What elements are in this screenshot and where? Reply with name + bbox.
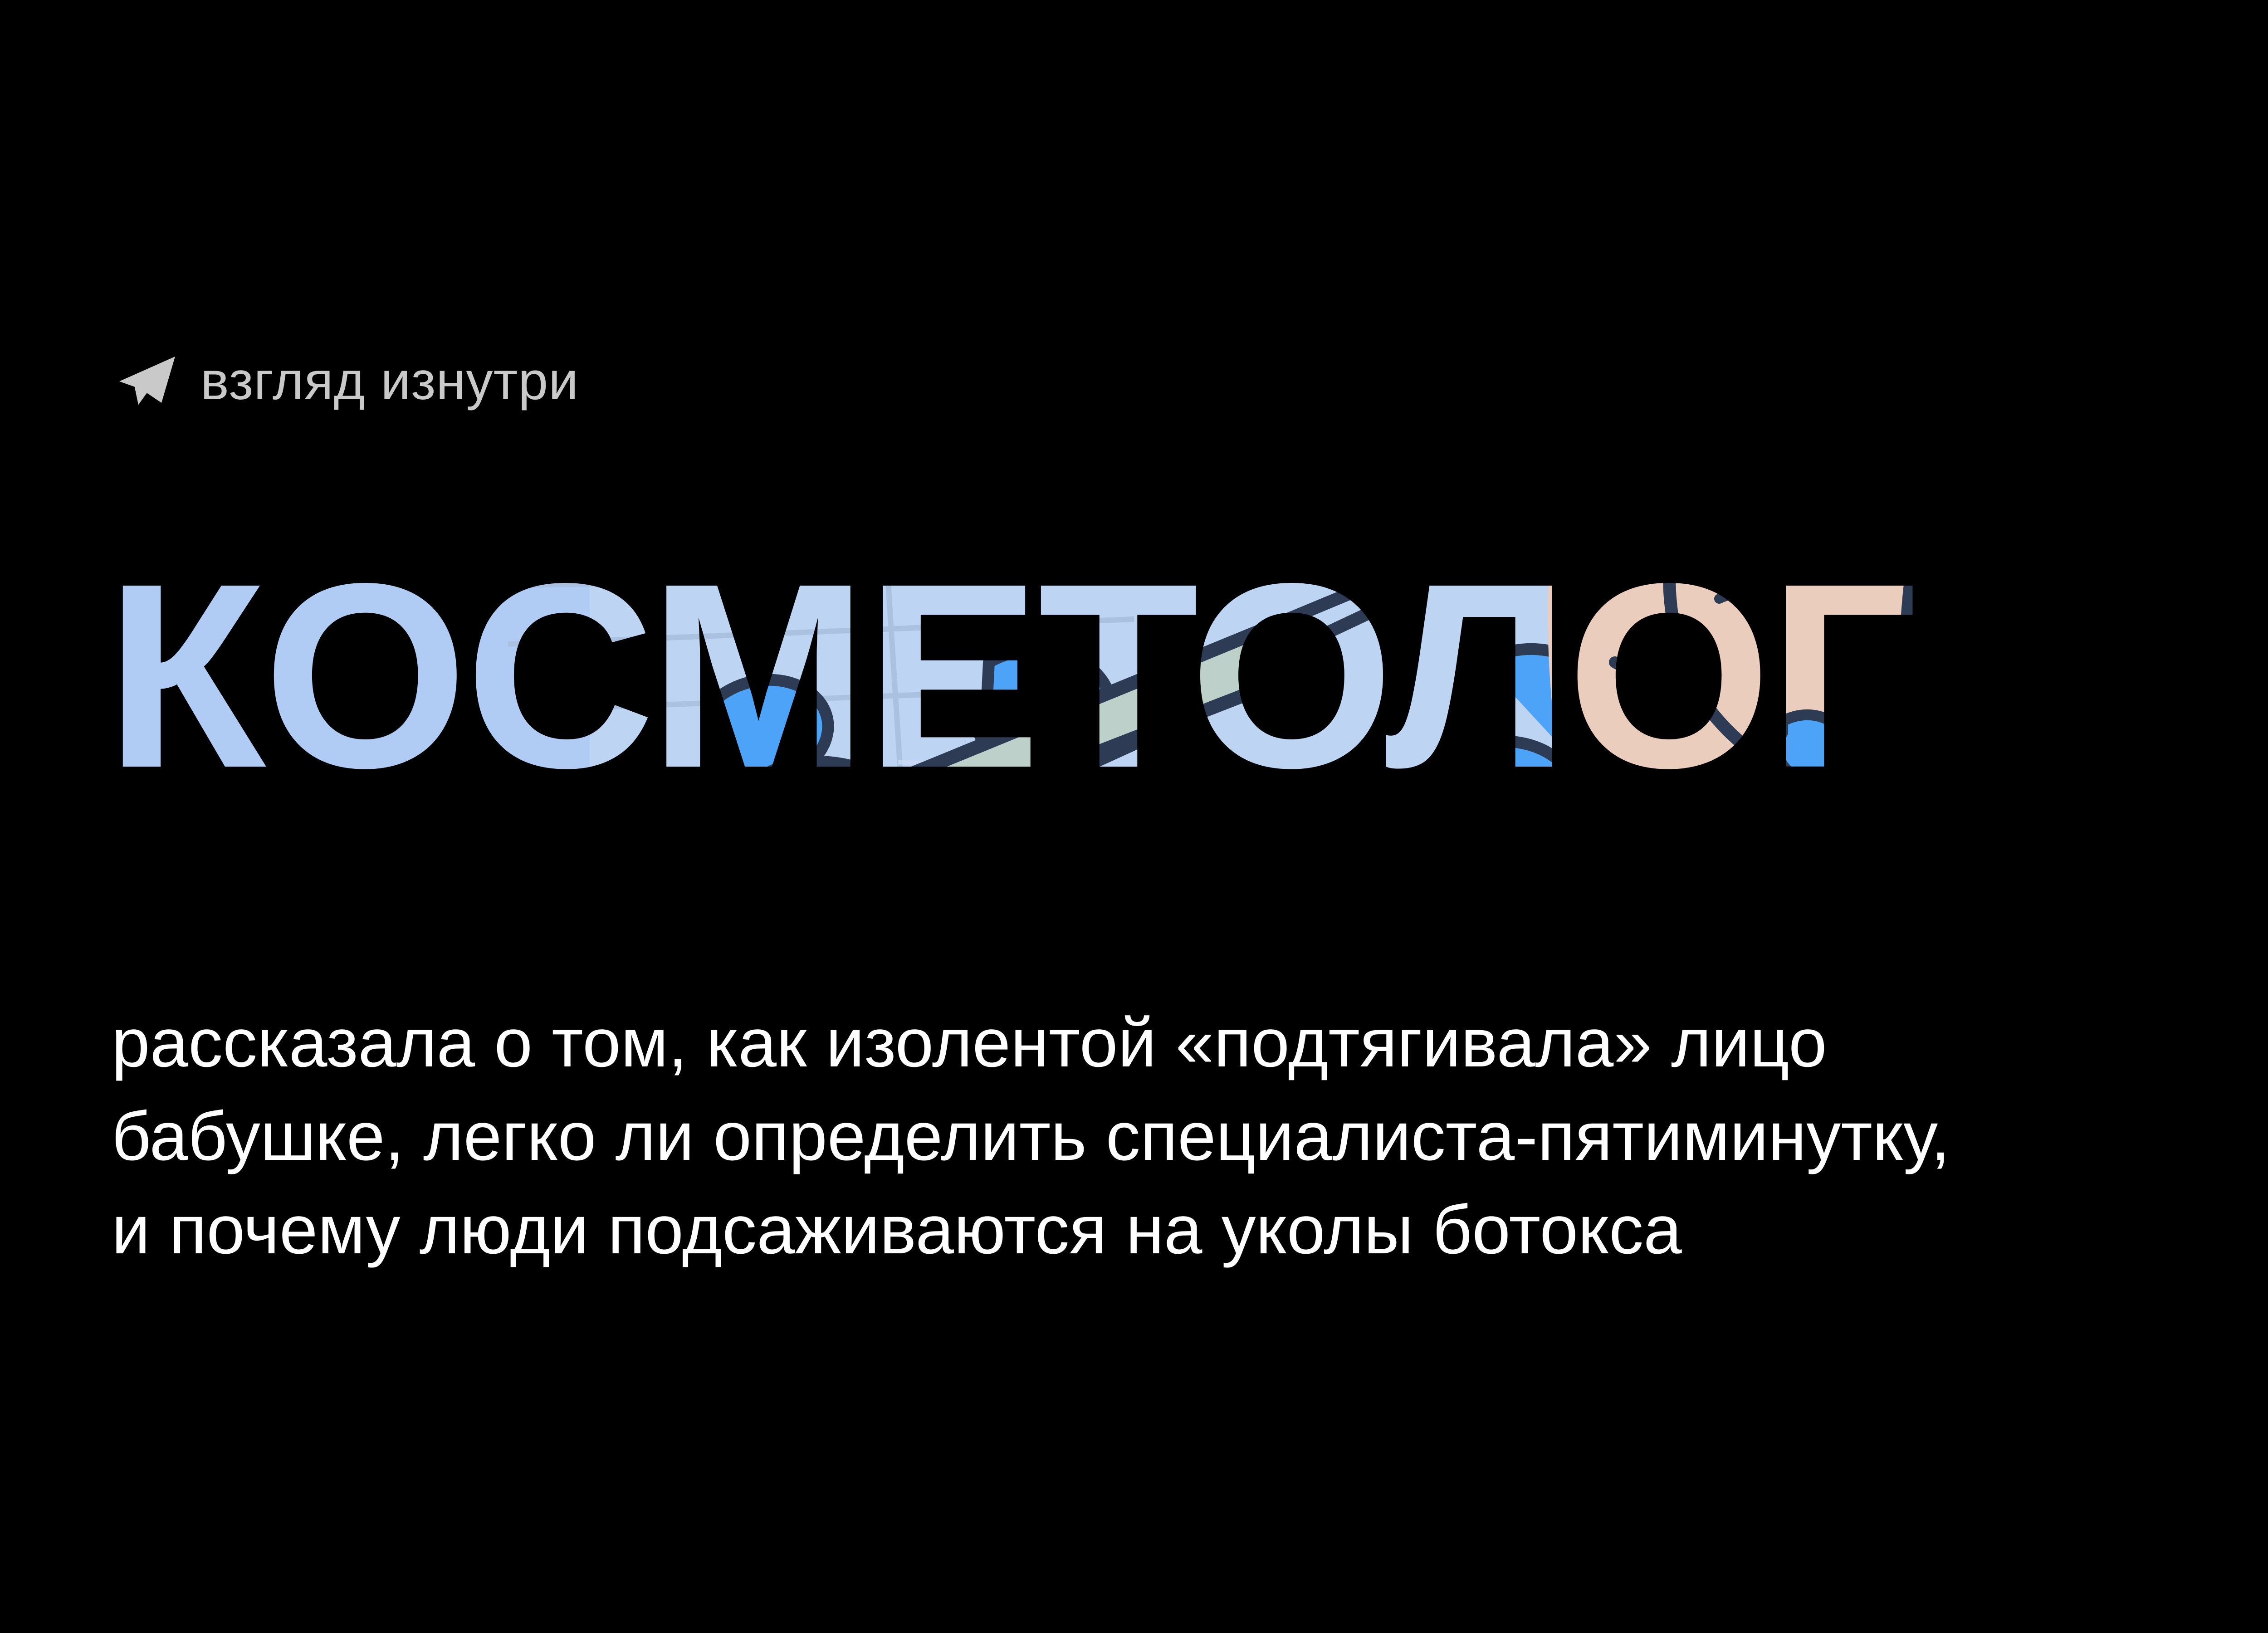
deck-line-2: бабушке, легко ли определить специалиста…: [112, 1090, 2268, 1183]
poster-canvas: взгляд изнутри КОСМЕТОЛОГ: [0, 0, 2268, 1633]
deck-line-3: и почему люди подсаживаются на уколы бот…: [112, 1183, 2268, 1276]
channel-name: взгляд изнутри: [200, 354, 579, 408]
headline-block: КОСМЕТОЛОГ: [0, 526, 2268, 807]
deck-line-1: рассказала о том, как изолентой «подтяги…: [112, 996, 2268, 1090]
article-deck: рассказала о том, как изолентой «подтяги…: [112, 996, 2268, 1276]
channel-kicker: взгляд изнутри: [112, 345, 579, 417]
telegram-paper-plane-icon: [112, 347, 181, 415]
headline-masked-artwork: КОСМЕТОЛОГ: [0, 526, 2268, 807]
